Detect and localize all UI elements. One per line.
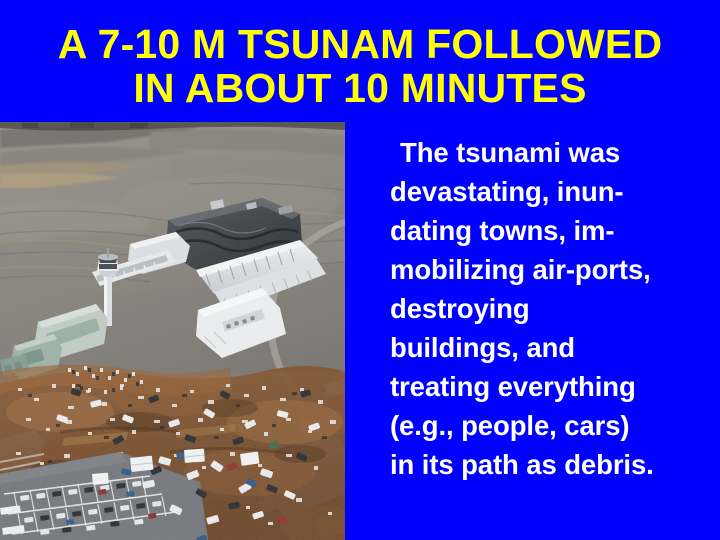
aerial-photo-graphic (0, 122, 345, 540)
tsunami-aerial-photo (0, 122, 345, 540)
body-paragraph: The tsunami was devastating, inun- datin… (360, 133, 712, 484)
slide-body: The tsunami was devastating, inun- datin… (360, 133, 712, 484)
title-line-2: IN ABOUT 10 MINUTES (0, 66, 720, 110)
presentation-slide: A 7-10 M TSUNAM FOLLOWED IN ABOUT 10 MIN… (0, 0, 720, 540)
slide-title: A 7-10 M TSUNAM FOLLOWED IN ABOUT 10 MIN… (0, 22, 720, 110)
title-line-1: A 7-10 M TSUNAM FOLLOWED (0, 22, 720, 66)
